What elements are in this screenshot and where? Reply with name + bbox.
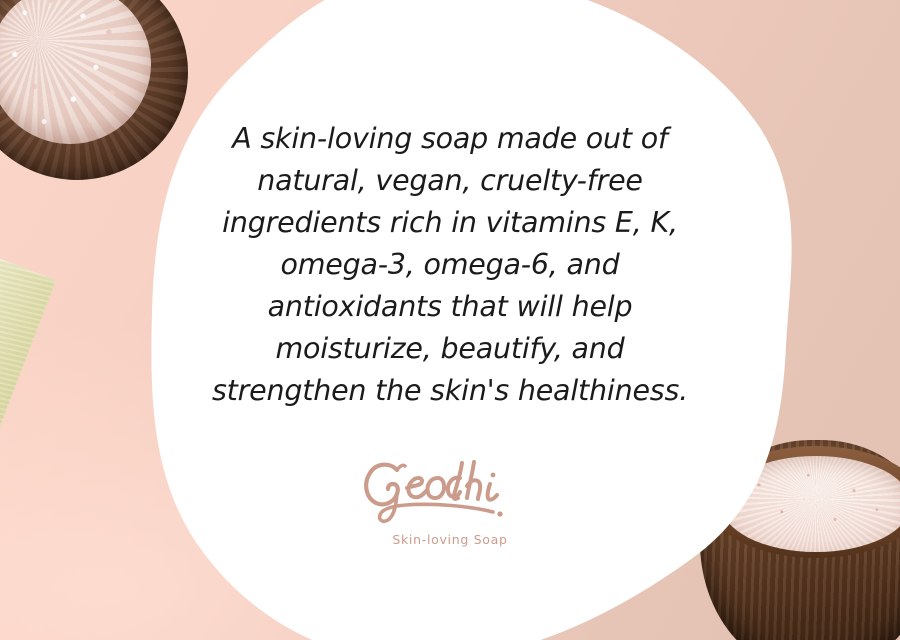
- photo-salt-bowl-bottom-right: [700, 440, 900, 640]
- fine-salt: [721, 456, 900, 552]
- content-block: A skin-loving soap made out of natural, …: [180, 118, 720, 547]
- brand-wordmark: Geodhi: [350, 454, 550, 530]
- brand-tagline: Skin-loving Soap: [392, 532, 507, 547]
- product-description: A skin-loving soap made out of natural, …: [180, 118, 720, 412]
- brand-lockup: Geodhi Skin-loving Soap: [180, 454, 720, 547]
- product-graphic-canvas: A skin-loving soap made out of natural, …: [0, 0, 900, 640]
- photo-salt-bowl-top-left: [0, 0, 208, 192]
